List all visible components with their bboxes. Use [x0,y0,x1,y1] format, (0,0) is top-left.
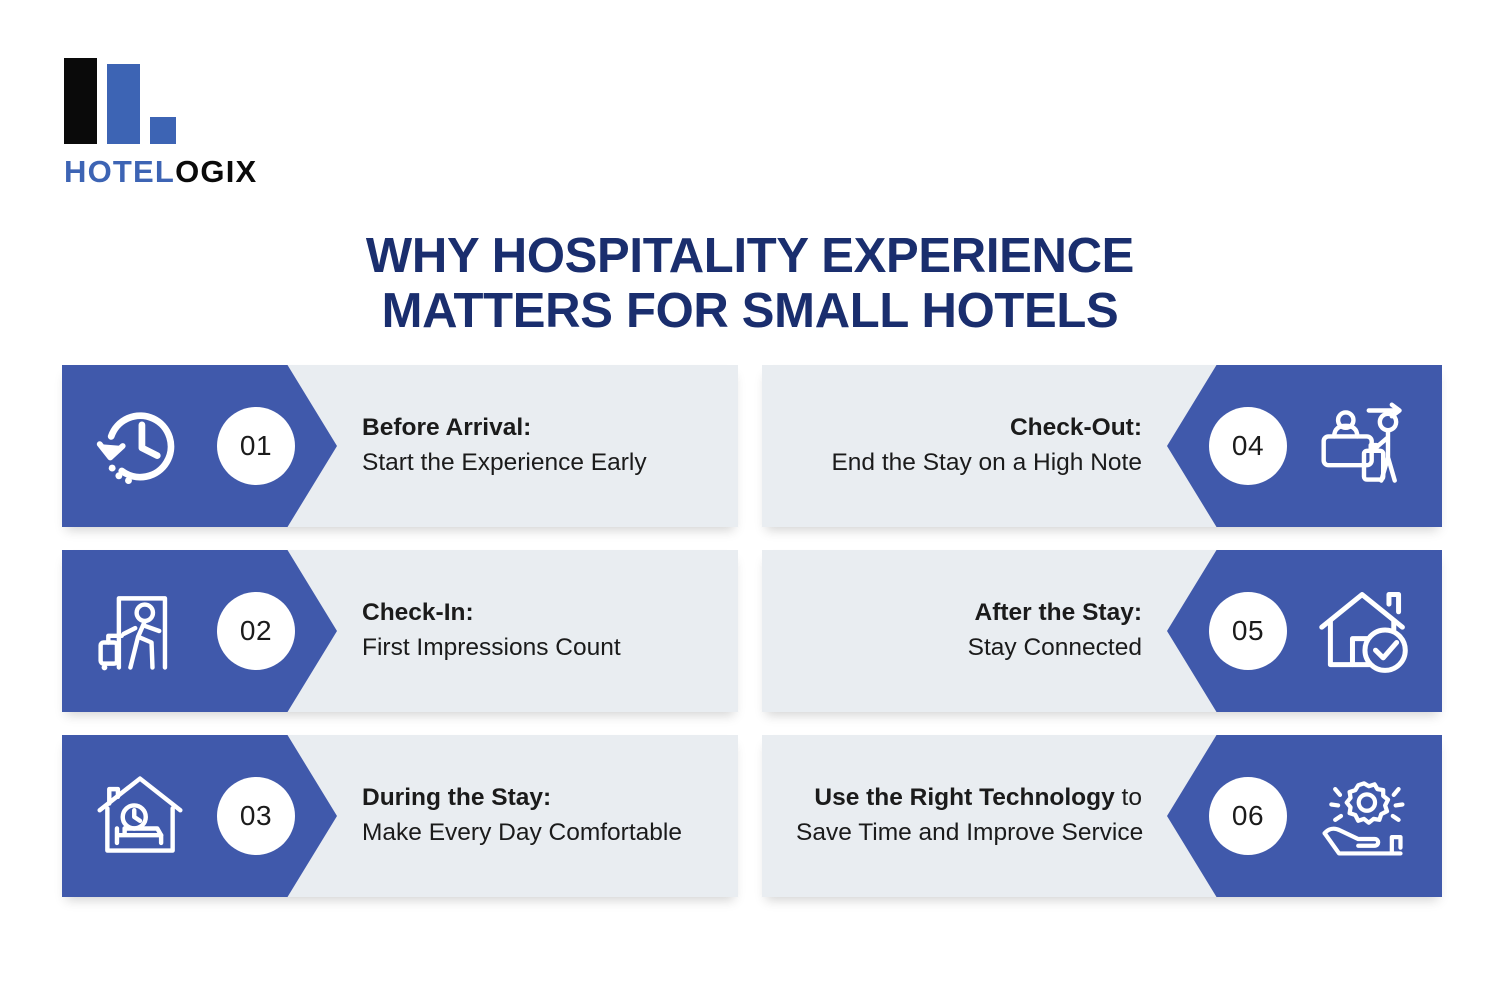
step-text: Check-Out: End the Stay on a High Note [796,411,1142,481]
step-heading-suffix: to [1115,784,1142,811]
logo-word-hotel: HOTEL [64,154,175,189]
step-text: Use the Right Technology to Save Time an… [796,781,1142,851]
step-arrow-block: 03 [62,735,337,897]
step-arrow-block: 05 [1167,550,1442,712]
step-heading: Check-In: [362,596,704,631]
step-card-03[interactable]: 03 During the Stay: Make Every Day Comfo… [62,735,738,897]
step-number-badge: 02 [217,592,295,670]
step-card-02[interactable]: 02 Check-In: First Impressions Count [62,550,738,712]
step-heading: Check-Out: [796,411,1142,446]
steps-row-2: 02 Check-In: First Impressions Count [0,550,1500,712]
step-heading: Use the Right Technology [814,784,1114,811]
step-heading-line: Use the Right Technology to [796,781,1142,816]
steps-row-1: 01 Before Arrival: Start the Experience … [0,365,1500,527]
step-text: Before Arrival: Start the Experience Ear… [362,411,704,481]
logo-bar-blue-small [150,117,176,144]
step-subtext: Start the Experience Early [362,446,704,481]
logo-bar-black [64,58,97,144]
step-subtext: Save Time and Improve Service [796,816,1142,851]
step-number-badge: 04 [1209,407,1287,485]
step-heading: Before Arrival: [362,411,704,446]
step-arrow-block: 04 [1167,365,1442,527]
step-card-01[interactable]: 01 Before Arrival: Start the Experience … [62,365,738,527]
house-with-check-icon [1316,583,1412,679]
step-heading: After the Stay: [796,596,1142,631]
step-subtext: Make Every Day Comfortable [362,816,704,851]
steps-row-3: 03 During the Stay: Make Every Day Comfo… [0,735,1500,897]
step-card-06[interactable]: 06 Use the Right Technology to Save Time… [762,735,1442,897]
step-arrow-block: 02 [62,550,337,712]
step-number-badge: 01 [217,407,295,485]
logo-word-ogix: OGIX [175,154,257,189]
hand-holding-gear-icon [1316,768,1412,864]
step-heading: During the Stay: [362,781,704,816]
reception-desk-checkout-icon [1316,398,1412,494]
step-arrow-block: 01 [62,365,337,527]
step-text: After the Stay: Stay Connected [796,596,1142,666]
steps-grid: 01 Before Arrival: Start the Experience … [0,365,1500,920]
step-text: Check-In: First Impressions Count [362,596,704,666]
step-number-badge: 03 [217,777,295,855]
step-number-badge: 06 [1209,777,1287,855]
step-card-04[interactable]: 04 Check-Out: End the Stay on a High Not… [762,365,1442,527]
logo-mark [64,58,176,144]
guest-with-luggage-doorway-icon [92,583,188,679]
house-with-bed-and-clock-icon [92,768,188,864]
step-subtext: First Impressions Count [362,631,704,666]
logo-bar-blue-tall [107,64,140,144]
logo-wordmark: HOTELOGIX [64,156,264,187]
step-arrow-block: 06 [1167,735,1442,897]
page-title: WHY HOSPITALITY EXPERIENCE MATTERS FOR S… [260,229,1240,339]
brand-logo: HOTELOGIX [64,58,264,188]
page-title-line-1: WHY HOSPITALITY EXPERIENCE [260,229,1240,284]
step-card-05[interactable]: 05 After the Stay: Stay Connected [762,550,1442,712]
step-number-badge: 05 [1209,592,1287,670]
step-text: During the Stay: Make Every Day Comforta… [362,781,704,851]
step-subtext: End the Stay on a High Note [796,446,1142,481]
step-subtext: Stay Connected [796,631,1142,666]
page-title-line-2: MATTERS FOR SMALL HOTELS [260,284,1240,339]
clock-rewind-icon [92,398,188,494]
